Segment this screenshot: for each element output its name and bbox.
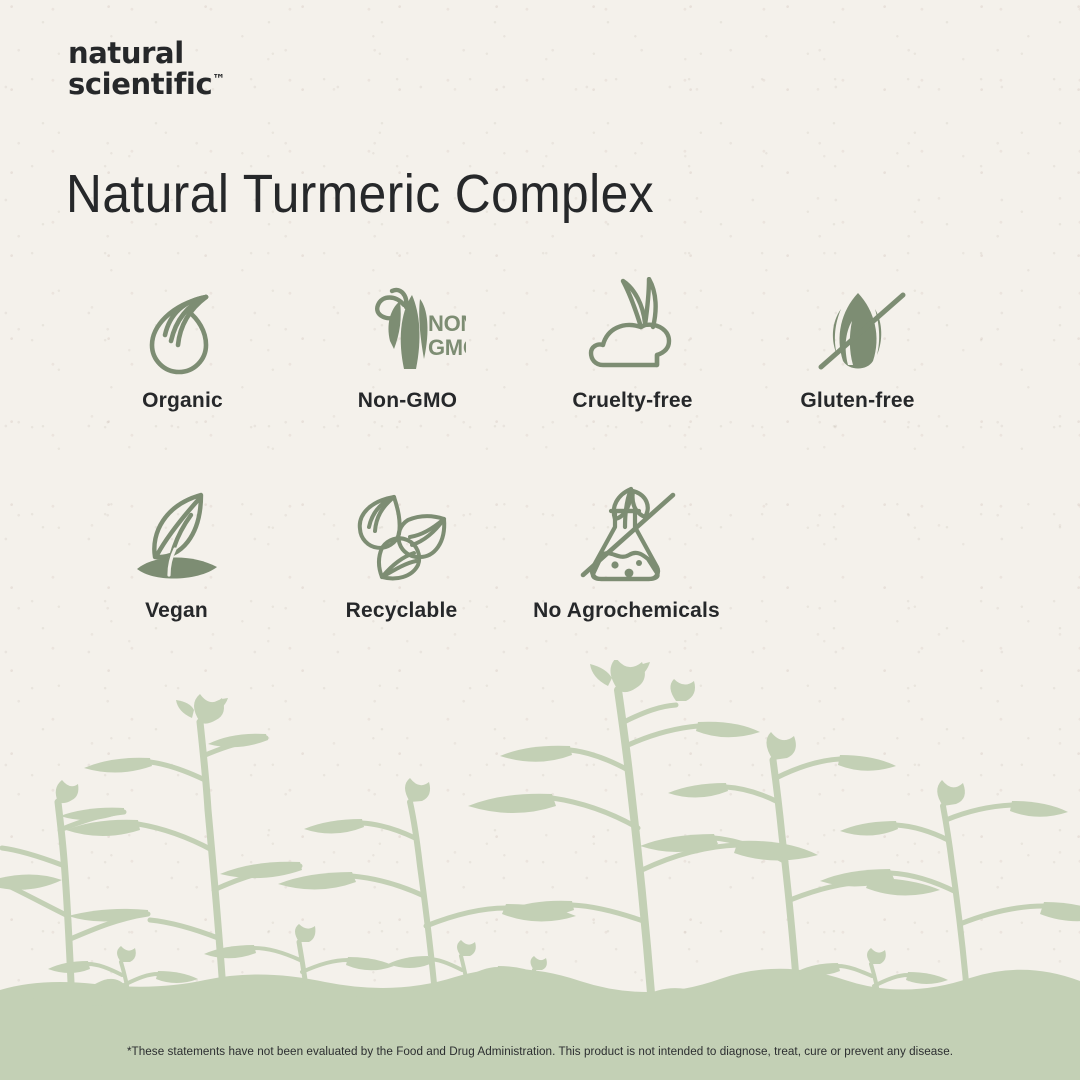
badge-organic[interactable]: Organic (70, 275, 295, 413)
brand-logo-line2: scientific (68, 67, 212, 101)
organic-leaf-drop-icon (140, 275, 226, 375)
botanical-silhouette-illustration (0, 660, 1080, 1080)
badge-cruelty-free[interactable]: Cruelty-free (520, 275, 745, 413)
badge-vegan[interactable]: Vegan (64, 485, 289, 623)
brand-logo-line2-wrap: scientific™ (68, 69, 225, 100)
trademark-symbol: ™ (212, 73, 225, 88)
certification-badge-row-1: Organic NON GMO Non-GM (0, 275, 1080, 413)
vegan-sprout-icon (129, 485, 225, 585)
cruelty-free-rabbit-icon (587, 275, 679, 375)
badge-label-gluten-free: Gluten-free (800, 389, 914, 413)
badge-label-organic: Organic (142, 389, 223, 413)
badge-gluten-free[interactable]: Gluten-free (745, 275, 970, 413)
svg-text:NON: NON (428, 311, 466, 336)
badge-no-agrochemicals[interactable]: No Agrochemicals (514, 485, 739, 623)
badge-label-recyclable: Recyclable (346, 599, 458, 623)
badge-label-no-agrochemicals: No Agrochemicals (533, 599, 720, 623)
no-agrochemicals-flask-slash-icon (571, 485, 683, 585)
badge-label-non-gmo: Non-GMO (358, 389, 457, 413)
badge-recyclable[interactable]: Recyclable (289, 485, 514, 623)
badge-label-cruelty-free: Cruelty-free (572, 389, 692, 413)
badge-label-vegan: Vegan (145, 599, 208, 623)
fda-disclaimer-text: *These statements have not been evaluate… (27, 1044, 1053, 1058)
brand-logo-line1: natural (68, 38, 225, 69)
brand-logo: natural scientific™ (68, 38, 225, 101)
gluten-free-wheat-slash-icon (805, 275, 911, 375)
svg-text:GMO: GMO (428, 335, 466, 360)
certification-badge-row-2: Vegan (0, 485, 1080, 623)
non-gmo-corn-butterfly-icon: NON GMO (350, 275, 466, 375)
recyclable-leaves-icon (354, 485, 450, 585)
page-title: Natural Turmeric Complex (66, 163, 654, 225)
badge-non-gmo[interactable]: NON GMO Non-GMO (295, 275, 520, 413)
